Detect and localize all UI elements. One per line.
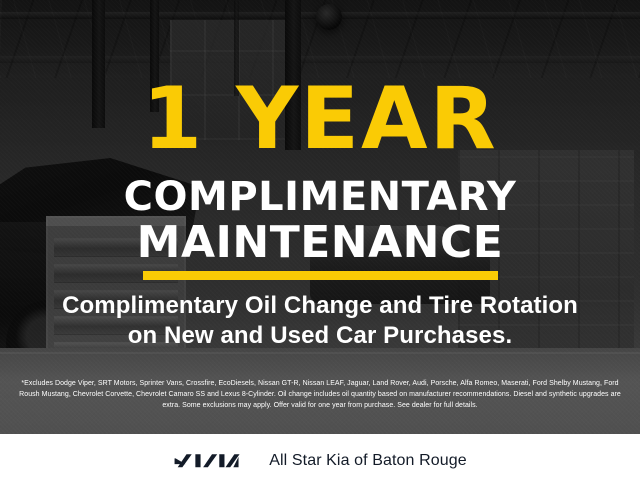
disclaimer-text: *Excludes Dodge Viper, SRT Motors, Sprin…: [16, 378, 624, 411]
headline-maintenance: MAINTENANCE: [0, 220, 640, 266]
promo-content: 1 YEAR COMPLIMENTARY MAINTENANCE Complim…: [0, 0, 640, 488]
headline-year: 1 YEAR: [0, 76, 640, 162]
footer-bar: All Star Kia of Baton Rouge: [0, 434, 640, 488]
dealer-name: All Star Kia of Baton Rouge: [269, 452, 466, 470]
subheadline: Complimentary Oil Change and Tire Rotati…: [24, 291, 616, 351]
accent-divider-rule: [143, 271, 498, 280]
subheadline-line-1: Complimentary Oil Change and Tire Rotati…: [62, 292, 578, 319]
subheadline-line-2: on New and Used Car Purchases.: [24, 321, 616, 351]
kia-logo: [173, 450, 251, 472]
headline-complimentary: COMPLIMENTARY: [0, 176, 640, 218]
promo-banner: 1 YEAR COMPLIMENTARY MAINTENANCE Complim…: [0, 0, 640, 488]
